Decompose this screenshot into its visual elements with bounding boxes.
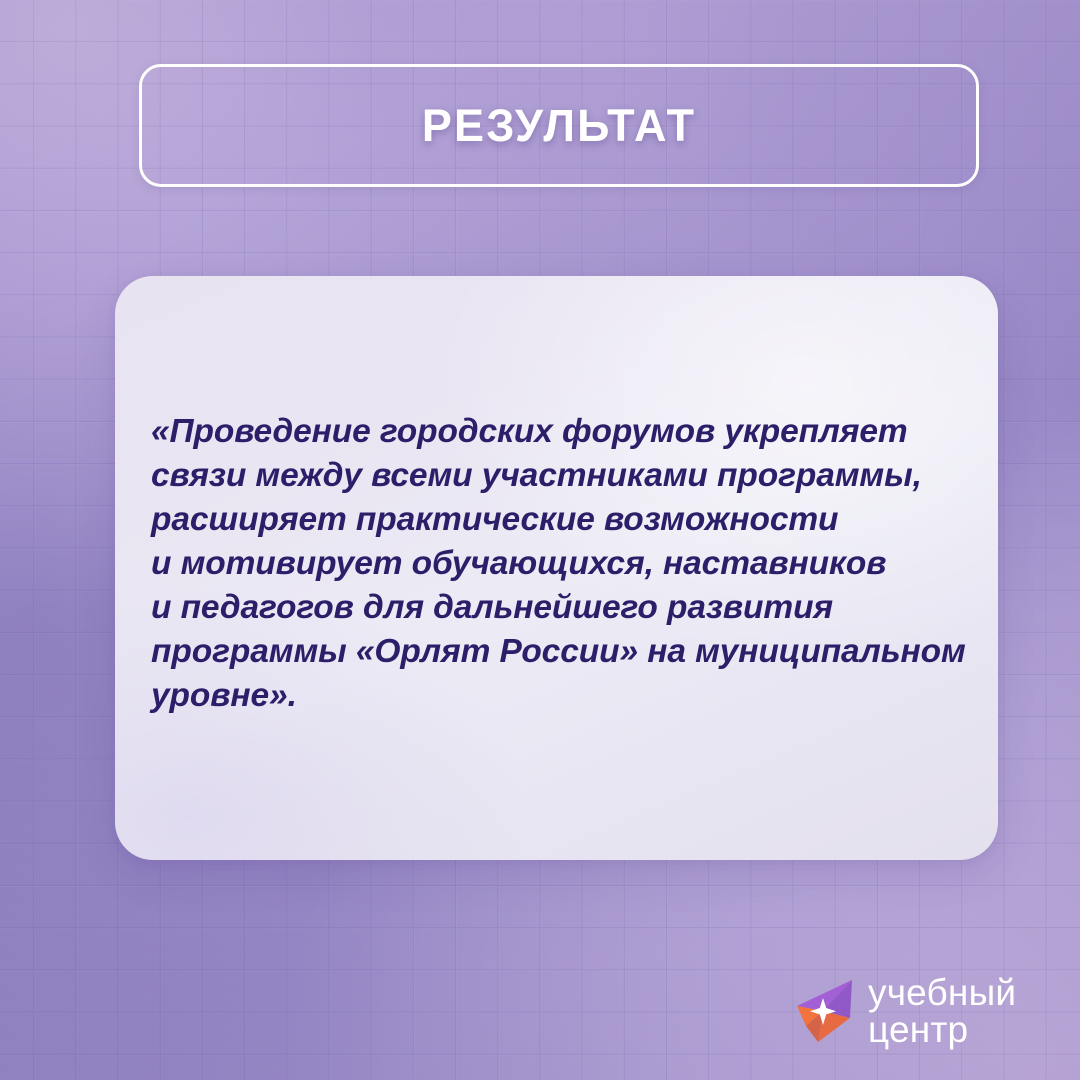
quote-line: и педагогов для дальнейшего развития xyxy=(151,586,987,630)
brand-logo: учебный центр xyxy=(792,974,1016,1048)
header-banner: РЕЗУЛЬТАТ xyxy=(139,64,979,187)
slide-canvas: РЕЗУЛЬТАТ «Проведение городских форумов … xyxy=(0,0,1080,1080)
quote-text-block: «Проведение городских форумов укрепляет … xyxy=(151,410,987,718)
quote-line: «Проведение городских форумов укрепляет xyxy=(151,410,987,454)
quote-line: программы «Орлят России» на муниципально… xyxy=(151,630,987,674)
quote-line: расширяет практические возможности xyxy=(151,498,987,542)
logo-line-2: центр xyxy=(868,1011,1016,1048)
logo-line-1: учебный xyxy=(868,974,1016,1011)
quote-card: «Проведение городских форумов укрепляет … xyxy=(115,276,998,860)
page-title: РЕЗУЛЬТАТ xyxy=(422,103,696,148)
quote-line: связи между всеми участниками программы, xyxy=(151,454,987,498)
logo-wordmark: учебный центр xyxy=(868,974,1016,1048)
logo-mark-icon xyxy=(792,978,854,1044)
quote-line: уровне». xyxy=(151,674,987,718)
quote-line: и мотивирует обучающихся, наставников xyxy=(151,542,987,586)
